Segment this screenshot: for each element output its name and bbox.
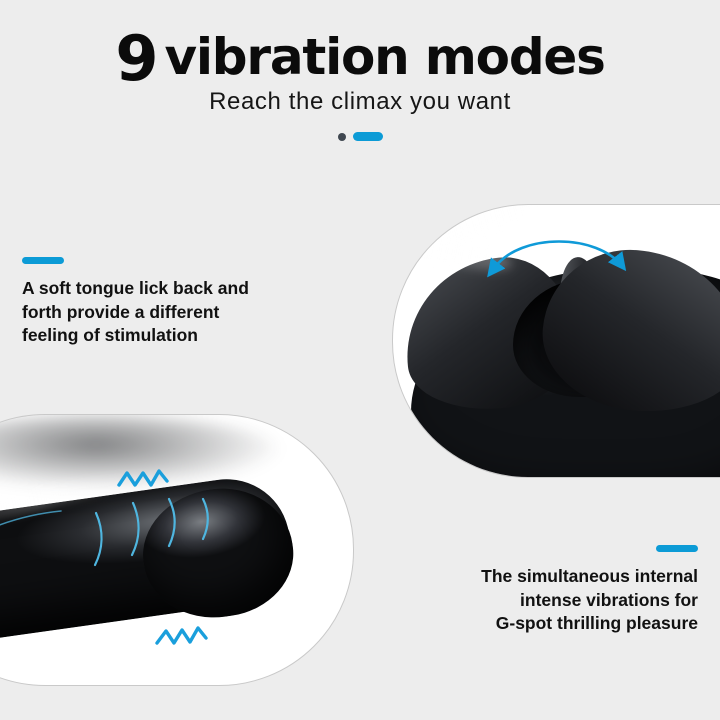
tongue-product-illustration bbox=[393, 205, 720, 477]
feature-caption-right: The simultaneous internal intense vibrat… bbox=[420, 545, 698, 636]
pagination-active-pill[interactable] bbox=[353, 132, 383, 141]
feature-caption-right-text: The simultaneous internal intense vibrat… bbox=[420, 565, 698, 636]
page-title: 9vibration modes bbox=[0, 28, 720, 90]
feature-caption-left: A soft tongue lick back and forth provid… bbox=[22, 257, 292, 348]
headline-number: 9 bbox=[115, 22, 157, 95]
pagination-dot[interactable] bbox=[338, 133, 346, 141]
pagination-indicator[interactable] bbox=[0, 132, 720, 141]
product-card-shaft bbox=[0, 414, 354, 686]
product-card-tongue bbox=[392, 204, 720, 478]
accent-bar-right bbox=[656, 545, 698, 552]
subtitle: Reach the climax you want bbox=[0, 88, 720, 116]
headline-text: vibration modes bbox=[164, 28, 604, 86]
feature-caption-left-text: A soft tongue lick back and forth provid… bbox=[22, 277, 292, 348]
poster-canvas: 9vibration modes Reach the climax you wa… bbox=[0, 0, 720, 720]
accent-bar-left bbox=[22, 257, 64, 264]
shaft-product-illustration bbox=[0, 415, 353, 685]
motion-arc-arrow-icon bbox=[479, 227, 639, 283]
